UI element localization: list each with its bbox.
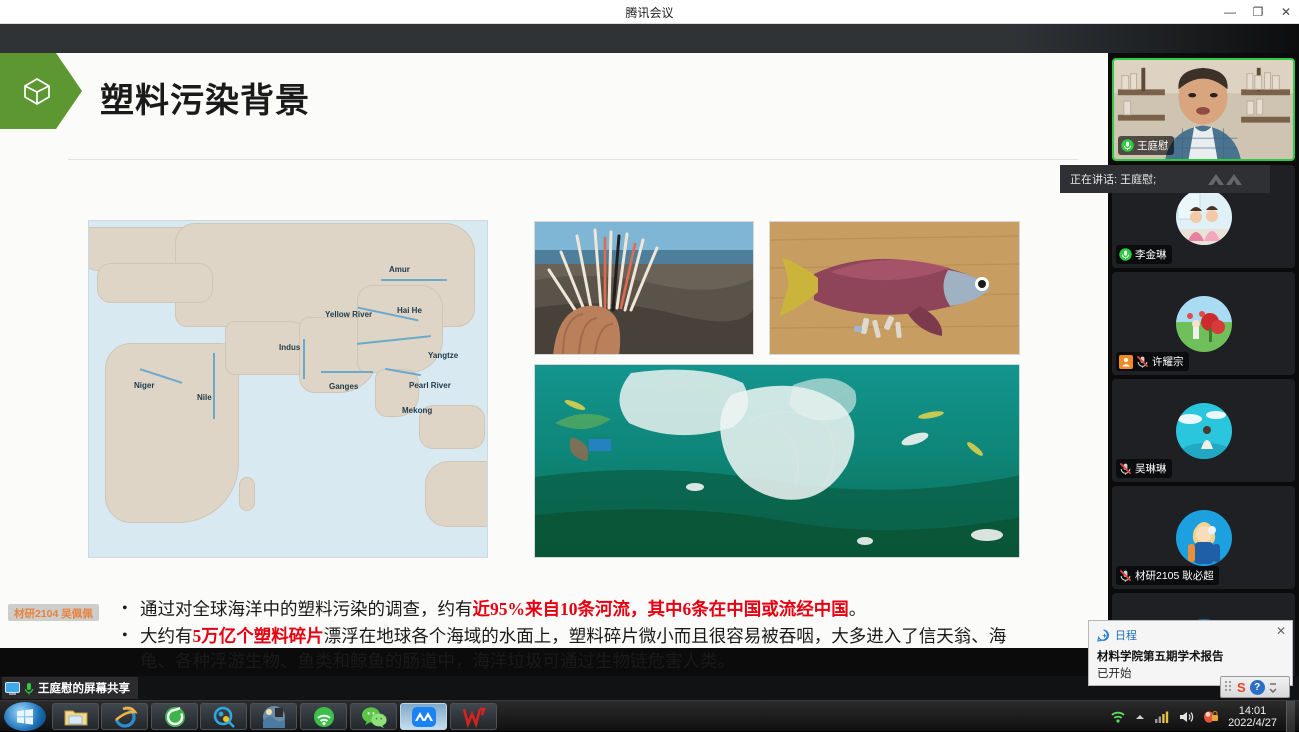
window-title-bar: 腾讯会议 — ❐ ✕ — [0, 0, 1299, 24]
qq-penguin-icon — [212, 705, 236, 729]
window-title: 腾讯会议 — [0, 4, 1299, 21]
participant-name: 吴琳琳 — [1135, 461, 1167, 476]
wifi-icon — [312, 705, 336, 729]
participant-name: 材研2105 耿必超 — [1135, 568, 1214, 583]
clock-date: 2022/4/27 — [1228, 717, 1277, 729]
clock-time: 14:01 — [1228, 705, 1277, 717]
participant-tile-list: 王庭慰 李金琳 许耀宗 吴琳琳 材研2105 耿必超 — [1112, 58, 1295, 696]
participant-name: 李金琳 — [1135, 247, 1167, 262]
participant-tile[interactable]: 吴琳琳 — [1112, 379, 1295, 482]
active-speaker-text: 正在讲话: 王庭慰; — [1070, 171, 1156, 187]
ime-engine-icon[interactable]: S — [1237, 680, 1246, 695]
bullet-segment: 大约有 — [140, 626, 193, 646]
plastic-straws-beach-photo — [534, 221, 754, 355]
participant-tile[interactable]: 许耀宗 — [1112, 272, 1295, 375]
shared-slide: 塑料污染背景 AmurYellow RiverH — [0, 53, 1108, 648]
bullet-segment: 5万亿个塑料碎片 — [193, 626, 324, 646]
microphone-muted-icon — [1136, 355, 1149, 368]
ime-help-icon[interactable]: ? — [1250, 680, 1265, 695]
tray-wifi-icon[interactable] — [1110, 710, 1126, 724]
participant-name-chip: 材研2105 耿必超 — [1116, 566, 1219, 585]
participant-rail[interactable]: 王庭慰 李金琳 许耀宗 吴琳琳 材研2105 耿必超 正在讲话: 王庭慰; — [1108, 53, 1299, 648]
map-label-indus: Indus — [279, 343, 300, 352]
map-label-nile: Nile — [197, 393, 212, 402]
page-title: 塑料污染背景 — [100, 73, 310, 122]
show-hidden-icons-arrow[interactable] — [1135, 713, 1145, 721]
tencent-meeting-watermark-icon — [1206, 172, 1252, 188]
world-rivers-map: AmurYellow RiverHai HeYangtzePearl River… — [88, 220, 488, 558]
bullet-segment: 近95%来自10条河流，其中6条在中国或流经中国 — [473, 599, 849, 619]
taskbar-item-360-browser[interactable] — [151, 703, 198, 730]
participant-name-chip: 王庭慰 — [1118, 136, 1174, 155]
taskbar-item-tencent-meeting[interactable] — [400, 703, 447, 730]
slide-bullet-list: 通过对全球海洋中的塑料污染的调查，约有近95%来自10条河流，其中6条在中国或流… — [120, 597, 1020, 676]
notification-title: 材料学院第五期学术报告 — [1089, 645, 1292, 664]
security-guard-icon[interactable] — [1203, 709, 1219, 724]
start-button[interactable] — [4, 702, 46, 731]
slide-bullet: 大约有5万亿个塑料碎片漂浮在地球各个海域的水面上，塑料碎片微小而且很容易被吞咽，… — [120, 624, 1020, 674]
meeting-top-bar — [0, 24, 1299, 53]
restore-button[interactable]: ❐ — [1251, 5, 1265, 19]
minimize-icon: — — [1223, 5, 1237, 19]
screen-share-icon — [5, 682, 20, 695]
restore-icon: ❐ — [1251, 5, 1265, 19]
map-label-yangtze: Yangtze — [428, 351, 458, 360]
participant-name: 王庭慰 — [1137, 138, 1169, 153]
participant-name-chip: 许耀宗 — [1116, 352, 1189, 371]
volume-icon[interactable] — [1178, 710, 1194, 724]
close-icon: ✕ — [1279, 5, 1293, 19]
participant-name: 许耀宗 — [1152, 354, 1184, 369]
map-label-hai-he: Hai He — [397, 306, 422, 315]
microphone-icon — [24, 682, 34, 695]
map-label-pearl-river: Pearl River — [409, 381, 451, 390]
host-badge-icon — [1119, 355, 1133, 369]
notification-close-icon[interactable]: ✕ — [1276, 624, 1286, 638]
map-label-yellow-river: Yellow River — [325, 310, 372, 319]
participant-name-chip: 李金琳 — [1116, 245, 1172, 264]
system-tray[interactable]: 14:01 2022/4/27 — [1110, 701, 1295, 732]
cube-icon — [22, 76, 52, 106]
map-label-niger: Niger — [134, 381, 154, 390]
notification-app-label: 日程 — [1115, 627, 1137, 643]
ime-drag-handle-icon[interactable] — [1224, 680, 1233, 694]
360-browser-icon — [163, 705, 187, 729]
taskbar-item-wifi-tool[interactable] — [300, 703, 347, 730]
show-desktop-button[interactable] — [1286, 701, 1295, 732]
participant-tile[interactable]: 王庭慰 — [1112, 58, 1295, 161]
calendar-bubble-icon — [1097, 629, 1110, 642]
taskbar-item-wechat[interactable] — [350, 703, 397, 730]
participant-name-chip: 吴琳琳 — [1116, 459, 1172, 478]
tencent-meeting-icon — [411, 706, 437, 728]
photos-icon — [262, 705, 286, 729]
microphone-muted-icon — [1119, 569, 1132, 582]
sogou-ime-toolbar[interactable]: S ? — [1220, 676, 1290, 698]
avatar — [1176, 510, 1232, 566]
screen-share-label: 王庭慰的屏幕共享 — [38, 680, 130, 696]
map-label-amur: Amur — [389, 265, 410, 274]
active-speaker-banner: 正在讲话: 王庭慰; — [1060, 165, 1270, 193]
bullet-segment: 。 — [849, 599, 867, 619]
map-label-mekong: Mekong — [402, 406, 432, 415]
avatar — [1176, 189, 1232, 245]
taskbar-item-qq[interactable] — [200, 703, 247, 730]
ie-icon — [112, 705, 138, 729]
screen-share-chip: 王庭慰的屏幕共享 — [2, 677, 138, 699]
avatar — [1176, 296, 1232, 352]
microphone-active-icon — [1119, 248, 1132, 261]
taskbar-item-wps-office[interactable] — [450, 703, 497, 730]
ime-expand-icon[interactable] — [1269, 680, 1277, 694]
map-label-ganges: Ganges — [329, 382, 358, 391]
meeting-window: 塑料污染背景 AmurYellow RiverH — [0, 24, 1299, 700]
ocean-plastic-bags-photo — [534, 364, 1020, 558]
avatar — [1176, 403, 1232, 459]
windows-taskbar[interactable]: 14:01 2022/4/27 — [0, 700, 1299, 731]
microphone-active-icon — [1121, 139, 1134, 152]
wps-icon — [461, 706, 487, 728]
fish-with-plastic-photo — [769, 221, 1020, 355]
folder-icon — [64, 707, 88, 727]
clock[interactable]: 14:01 2022/4/27 — [1228, 705, 1277, 729]
wechat-icon — [361, 706, 387, 728]
close-button[interactable]: ✕ — [1279, 5, 1293, 19]
network-signal-icon[interactable] — [1154, 710, 1169, 724]
minimize-button[interactable]: — — [1223, 5, 1237, 19]
taskbar-item-windows-explorer[interactable] — [52, 703, 99, 730]
participant-tile[interactable]: 材研2105 耿必超 — [1112, 486, 1295, 589]
taskbar-item-photo-app[interactable] — [250, 703, 297, 730]
title-divider — [68, 159, 1078, 160]
presenter-name-badge: 材研2104 吴佩佩 — [8, 604, 99, 621]
slide-bullet: 通过对全球海洋中的塑料污染的调查，约有近95%来自10条河流，其中6条在中国或流… — [120, 597, 1020, 622]
taskbar-item-internet-explorer[interactable] — [101, 703, 148, 730]
microphone-muted-icon — [1119, 462, 1132, 475]
windows-logo-icon — [16, 708, 34, 726]
bullet-segment: 通过对全球海洋中的塑料污染的调查，约有 — [140, 599, 473, 619]
